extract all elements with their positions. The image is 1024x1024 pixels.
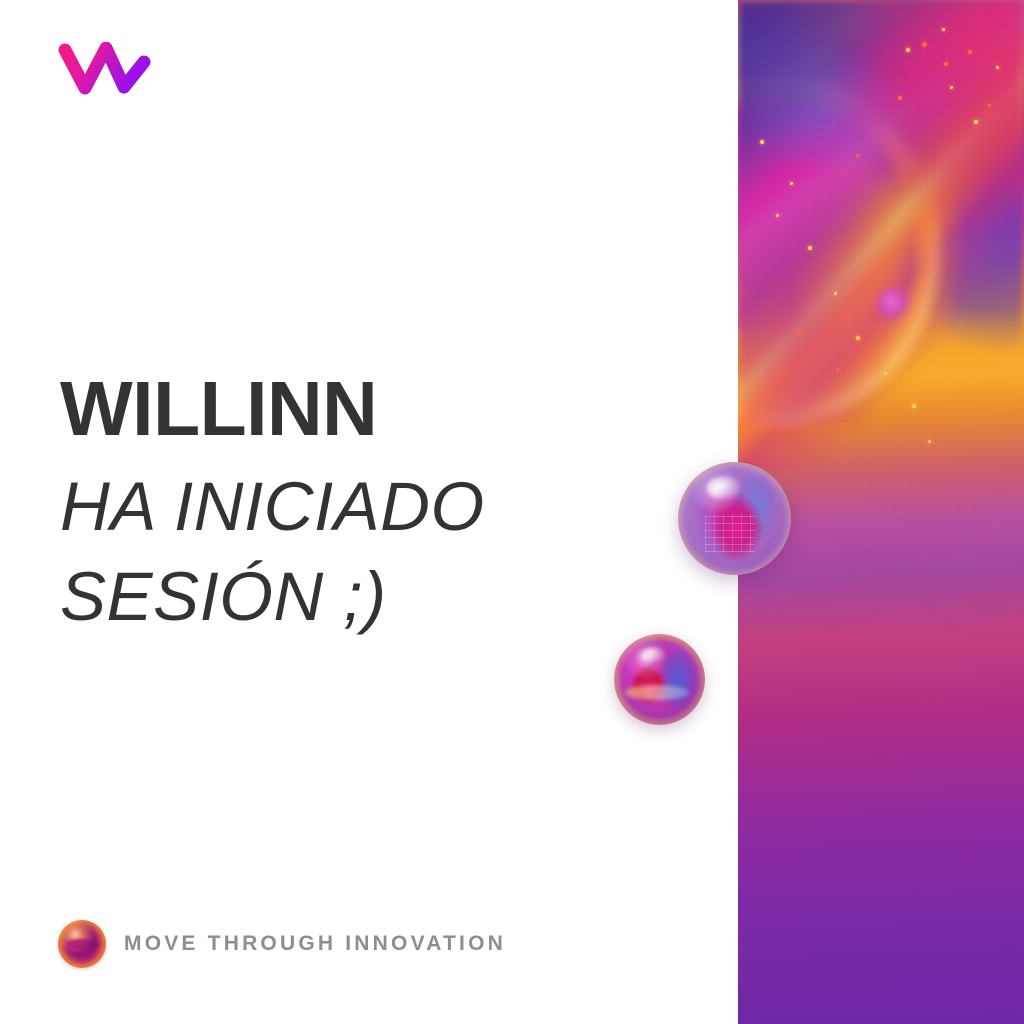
footer-tagline-block: MOVE THROUGH INNOVATION	[58, 920, 506, 968]
headline-line-2: HA INICIADO	[60, 462, 700, 552]
glass-sphere-small	[614, 634, 705, 725]
headline-block: WILLINN HA INICIADO SESIÓN ;)	[60, 366, 700, 642]
social-post-canvas: WILLINN HA INICIADO SESIÓN ;) MOVE THROU…	[0, 0, 1024, 1024]
tagline-text: MOVE THROUGH INNOVATION	[124, 932, 506, 956]
headline-username: WILLINN	[60, 366, 700, 452]
willinn-w-logo-icon[interactable]	[58, 42, 154, 98]
content-panel: WILLINN HA INICIADO SESIÓN ;) MOVE THROU…	[0, 0, 738, 1024]
glass-sphere-large	[678, 462, 791, 575]
iridescent-sphere-icon	[58, 920, 106, 968]
headline-line-3: SESIÓN ;)	[60, 552, 700, 642]
